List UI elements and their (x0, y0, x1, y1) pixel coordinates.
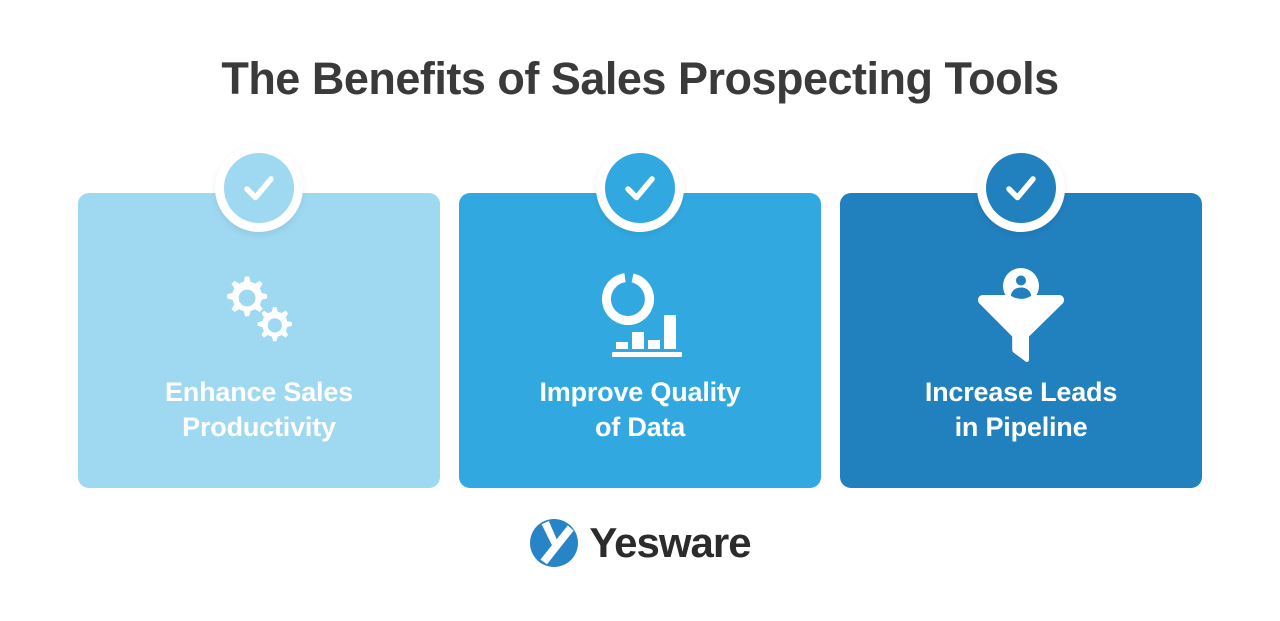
card-label: Increase Leads in Pipeline (840, 375, 1202, 444)
check-badge (596, 144, 684, 232)
card-icon-chart (459, 255, 821, 373)
brand-footer: Yesware (0, 518, 1280, 568)
infographic-page: The Benefits of Sales Prospecting Tools (0, 0, 1280, 621)
page-title: The Benefits of Sales Prospecting Tools (0, 52, 1280, 106)
check-badge-circle (605, 153, 675, 223)
benefit-card-improve-quality-of-data[interactable]: Improve Quality of Data (459, 193, 821, 488)
check-badge-circle (224, 153, 294, 223)
brand-name: Yesware (589, 522, 750, 564)
check-icon (237, 166, 281, 210)
yesware-y-circle-icon (529, 518, 579, 568)
check-badge (215, 144, 303, 232)
chart-analytics-icon (590, 264, 690, 364)
card-icon-funnel (840, 255, 1202, 373)
card-label: Improve Quality of Data (459, 375, 821, 444)
check-badge-circle (986, 153, 1056, 223)
card-icon-gears (78, 255, 440, 373)
check-badge (977, 144, 1065, 232)
lead-funnel-icon (971, 262, 1071, 366)
benefit-card-enhance-sales-productivity[interactable]: Enhance Sales Productivity (78, 193, 440, 488)
gears-icon (211, 266, 307, 362)
benefit-card-increase-leads-in-pipeline[interactable]: Increase Leads in Pipeline (840, 193, 1202, 488)
card-label: Enhance Sales Productivity (78, 375, 440, 444)
check-icon (618, 166, 662, 210)
check-icon (999, 166, 1043, 210)
benefit-cards-row: Enhance Sales Productivity (78, 193, 1202, 488)
